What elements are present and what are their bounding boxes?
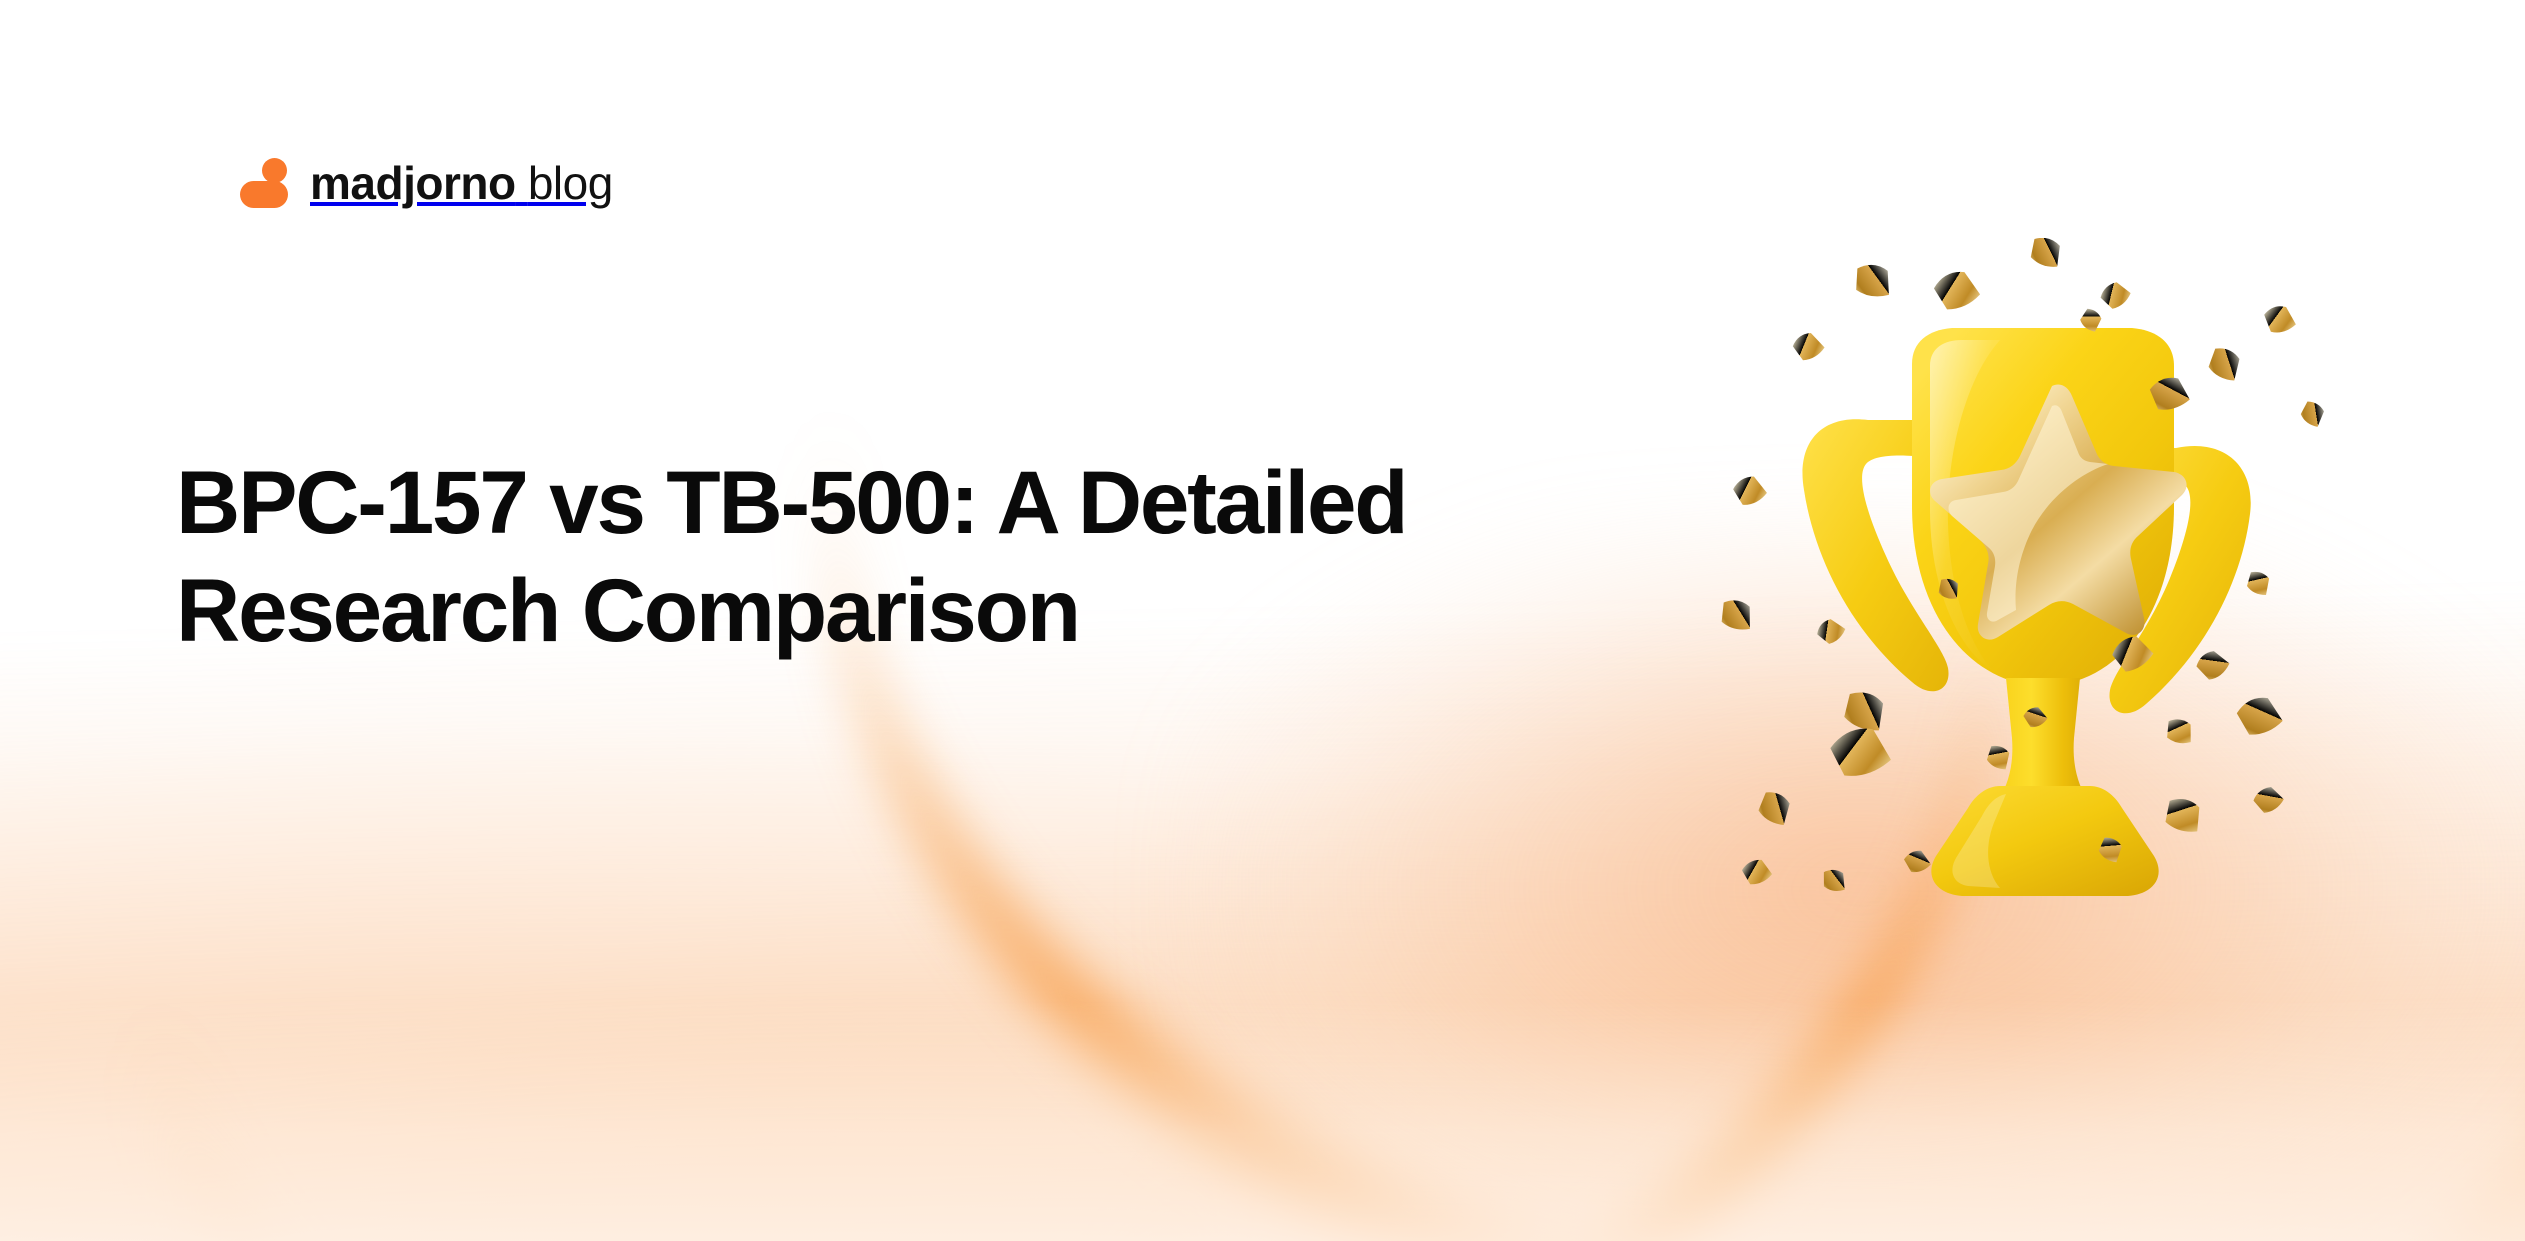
background-orange-wave-4 (0, 913, 1211, 1241)
logo-suffix-text: blog (528, 157, 613, 209)
logo-brand-name: madjorno (310, 157, 516, 209)
page-title: BPC-157 vs TB-500: A Detailed Research C… (176, 448, 1496, 664)
hero-banner: madjorno blog BPC-157 vs TB-500: A Detai… (0, 0, 2525, 1241)
user-person-icon-body (240, 181, 288, 208)
background-bottom-fade (0, 1001, 2525, 1241)
site-logo[interactable]: madjorno blog (240, 158, 613, 208)
logo-suffix (516, 157, 528, 209)
user-person-icon-head (262, 158, 287, 183)
trophy-base (1931, 786, 2158, 896)
trophy-stem (1996, 678, 2090, 804)
logo-wordmark: madjorno blog (310, 160, 613, 206)
user-person-icon (240, 158, 288, 208)
gold-trophy-with-star-and-confetti-illustration (1700, 238, 2340, 918)
